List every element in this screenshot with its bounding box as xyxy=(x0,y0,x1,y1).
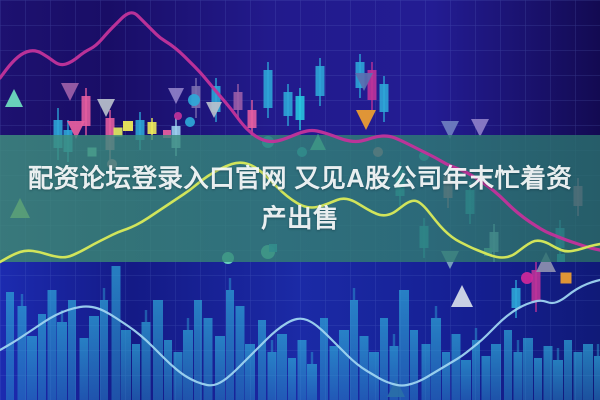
headline-overlay: 配资论坛登录入口官网 又见A股公司年末忙着资 产出售 xyxy=(0,135,600,262)
page-title: 配资论坛登录入口官网 又见A股公司年末忙着资 产出售 xyxy=(28,159,572,239)
headline-line-2: 产出售 xyxy=(261,205,339,233)
series-light-blue-volume-line xyxy=(0,280,600,386)
headline-line-1: 配资论坛登录入口官网 又见A股公司年末忙着资 xyxy=(28,165,572,193)
stock-chart-banner: 配资论坛登录入口官网 又见A股公司年末忙着资 产出售 xyxy=(0,0,600,400)
